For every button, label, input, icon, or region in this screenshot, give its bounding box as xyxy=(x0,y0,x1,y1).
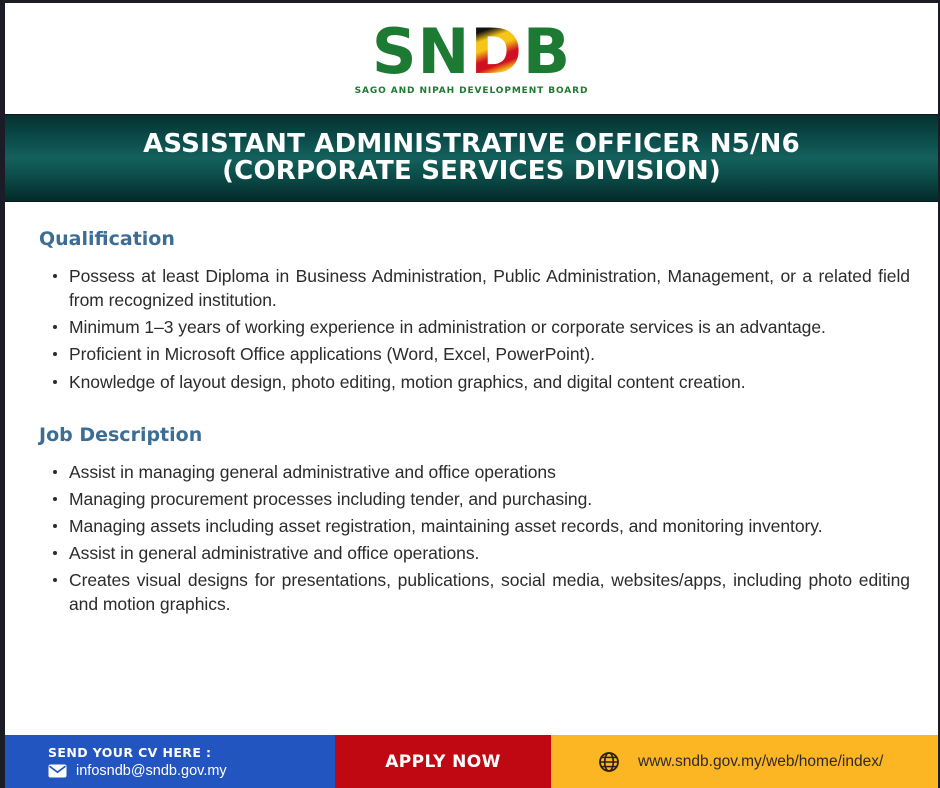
list-item: Managing assets including asset registra… xyxy=(39,514,910,538)
job-title-line-1: ASSISTANT ADMINISTRATIVE OFFICER N5/N6 xyxy=(143,131,800,158)
list-item: Creates visual designs for presentations… xyxy=(39,568,910,616)
website-url: www.sndb.gov.my/web/home/index/ xyxy=(638,753,883,771)
job-poster: S N D B SAGO AND NIPAH DEVELOPMENT BOARD… xyxy=(0,0,940,788)
job-title-line-2: (CORPORATE SERVICES DIVISION) xyxy=(222,158,721,185)
list-item: Possess at least Diploma in Business Adm… xyxy=(39,264,910,312)
email-address: infosndb@sndb.gov.my xyxy=(76,763,227,779)
logo-header: S N D B SAGO AND NIPAH DEVELOPMENT BOARD xyxy=(5,3,938,114)
apply-now-button[interactable]: APPLY NOW xyxy=(335,735,551,788)
job-description-list: Assist in managing general administrativ… xyxy=(39,460,910,617)
website-panel[interactable]: www.sndb.gov.my/web/home/index/ xyxy=(551,735,938,788)
envelope-icon xyxy=(48,764,67,778)
sndb-logo: S N D B xyxy=(372,21,571,83)
logo-letter-d: D xyxy=(470,21,522,83)
email-row[interactable]: infosndb@sndb.gov.my xyxy=(48,763,335,779)
globe-icon xyxy=(598,751,620,773)
list-item: Managing procurement processes including… xyxy=(39,487,910,511)
logo-letter-b: B xyxy=(523,21,571,83)
logo-tagline: SAGO AND NIPAH DEVELOPMENT BOARD xyxy=(355,86,589,96)
send-cv-panel: SEND YOUR CV HERE : infosndb@sndb.gov.my xyxy=(5,735,335,788)
list-item: Knowledge of layout design, photo editin… xyxy=(39,370,910,394)
logo-letter-s: S xyxy=(372,21,418,83)
list-item: Assist in general administrative and off… xyxy=(39,541,910,565)
poster-body: Qualification Possess at least Diploma i… xyxy=(5,202,938,617)
qualification-heading: Qualification xyxy=(39,228,910,250)
job-description-heading: Job Description xyxy=(39,424,910,446)
qualification-list: Possess at least Diploma in Business Adm… xyxy=(39,264,910,394)
poster-footer: SEND YOUR CV HERE : infosndb@sndb.gov.my… xyxy=(5,735,938,788)
list-item: Minimum 1–3 years of working experience … xyxy=(39,315,910,339)
title-banner: ASSISTANT ADMINISTRATIVE OFFICER N5/N6 (… xyxy=(5,114,938,202)
list-item: Assist in managing general administrativ… xyxy=(39,460,910,484)
logo-letter-n: N xyxy=(418,21,471,83)
list-item: Proficient in Microsoft Office applicati… xyxy=(39,342,910,366)
send-cv-label: SEND YOUR CV HERE : xyxy=(48,745,335,760)
